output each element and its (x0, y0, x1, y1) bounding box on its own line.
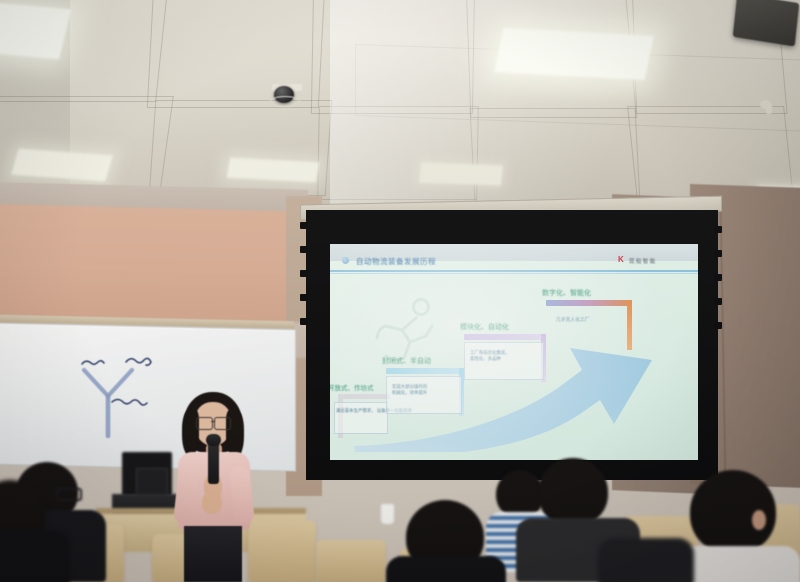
ceiling-light-panel (419, 163, 503, 186)
company-logo-mark: K (618, 255, 624, 264)
step-label-3: 数字化、智能化 (542, 288, 591, 298)
slide-title-bullet-icon (342, 257, 349, 264)
step-sub-2: 工厂布局优化集成， 柔性化、多品种 (470, 350, 510, 363)
step-label-2: 模块化、自动化 (460, 322, 509, 332)
lecture-hall-photo: 自动物流装备发展历程 K 昆船智能 开放式 (0, 0, 800, 582)
presenter-hand-lower (202, 492, 222, 514)
ceiling-light-panel (0, 3, 71, 60)
step-bar-1 (386, 368, 464, 374)
screen-tab (714, 250, 722, 257)
screen-tab (300, 318, 308, 325)
audience-glasses (56, 488, 82, 501)
step-bar-2 (464, 334, 546, 340)
screen-tab (300, 294, 308, 301)
screen-tab (300, 270, 308, 277)
screen-tab (300, 246, 308, 253)
ceiling (0, 0, 800, 212)
ceiling-light-panel (494, 28, 654, 80)
seat-back (316, 540, 386, 582)
slide-header-rule (330, 270, 698, 272)
presenter-glasses (214, 417, 231, 430)
screen-tab (300, 222, 308, 229)
microphone-head (206, 434, 221, 446)
screen-tab (714, 322, 722, 329)
paper-cup (381, 504, 394, 524)
presenter-glasses (196, 417, 213, 430)
presenter-skirt (184, 526, 242, 582)
company-logo-text: 昆船智能 (629, 257, 657, 265)
slide-header-rule-thin (330, 273, 698, 274)
projected-slide: 自动物流装备发展历程 K 昆船智能 开放式 (330, 244, 698, 460)
step-bar-3 (546, 300, 632, 306)
screen-tab (714, 226, 722, 233)
step-riser-3 (627, 300, 632, 350)
screen-tab (714, 298, 722, 305)
step-note-3: 几乎无人化工厂 (556, 316, 590, 323)
step-sub-1: 实现大部分操作的 机械化，效率提升 (392, 384, 427, 397)
presenter-glasses-bridge (211, 421, 215, 422)
screen-tab (714, 274, 722, 281)
camera-ring (270, 96, 300, 107)
step-card-0 (334, 402, 388, 434)
step-label-0: 开放式、作坊式 (330, 382, 374, 392)
sprinkler-icon (766, 104, 772, 114)
back-wall (0, 194, 302, 331)
presenter (160, 392, 268, 582)
step-bar-0 (338, 394, 390, 399)
slide-title: 自动物流装备发展历程 (356, 256, 436, 267)
step-label-1: 封闭式、半自动 (382, 356, 431, 366)
